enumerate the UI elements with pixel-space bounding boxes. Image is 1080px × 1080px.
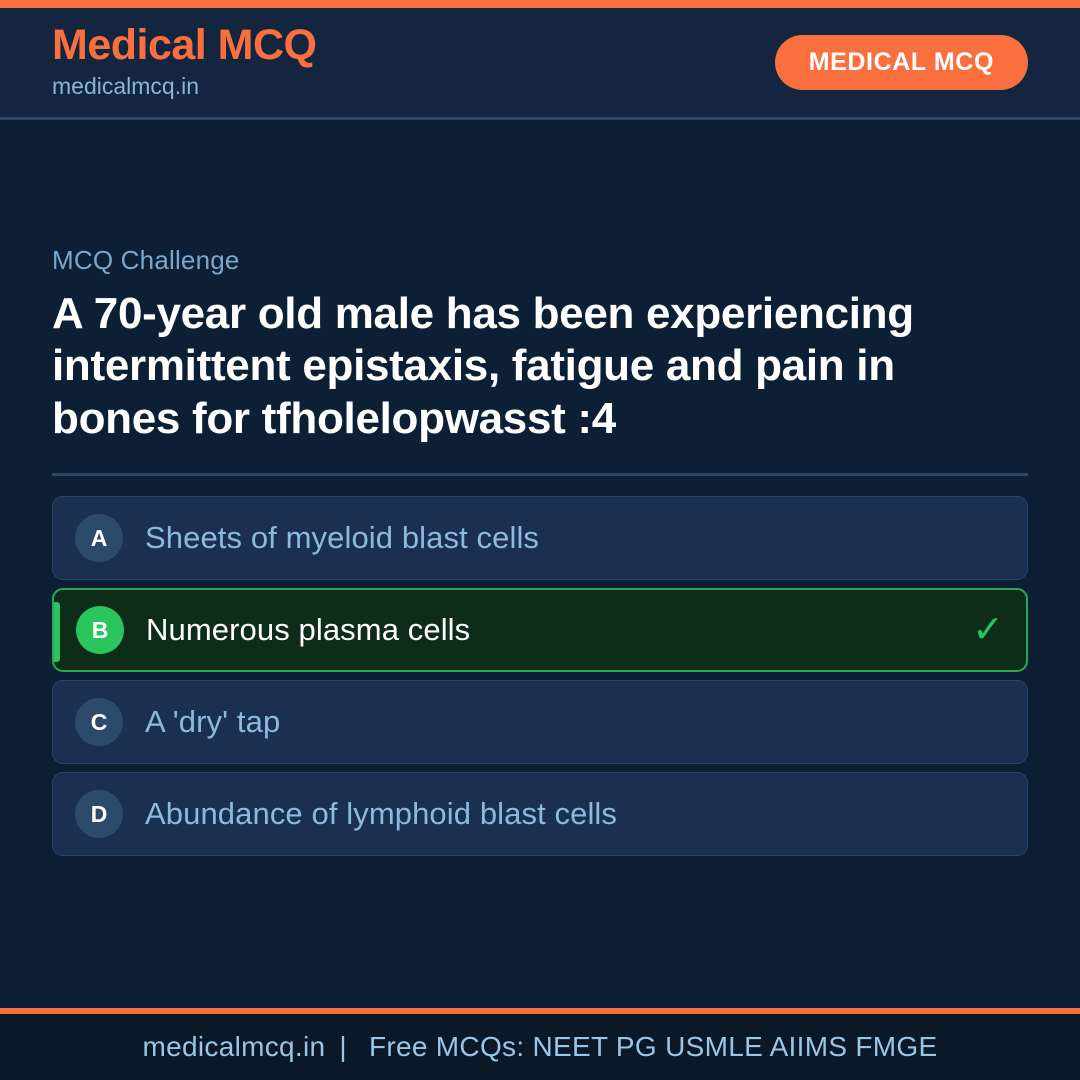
mcq-card: Medical MCQ medicalmcq.in MEDICAL MCQ MC… [0,0,1080,1080]
footer-text: medicalmcq.in|Free MCQs: NEET PG USMLE A… [143,1031,938,1063]
brand-badge: MEDICAL MCQ [775,35,1028,90]
brand-subtitle: medicalmcq.in [52,72,317,102]
option-label: Sheets of myeloid blast cells [145,519,539,556]
option-d[interactable]: D Abundance of lymphoid blast cells ✓ [52,772,1028,856]
top-accent-rule [0,0,1080,8]
question-text: A 70-year old male has been experiencing… [52,288,922,445]
footer-exams: Free MCQs: NEET PG USMLE AIIMS FMGE [361,1031,938,1062]
option-label: Abundance of lymphoid blast cells [145,795,617,832]
footer-bar: medicalmcq.in|Free MCQs: NEET PG USMLE A… [0,1008,1080,1080]
option-letter-badge: D [75,790,123,838]
option-label: A 'dry' tap [145,703,280,740]
footer-separator: | [325,1031,361,1062]
option-letter-badge: A [75,514,123,562]
mcq-challenge-label: MCQ Challenge [52,245,1028,276]
brand: Medical MCQ medicalmcq.in [52,23,317,101]
option-letter-badge: C [75,698,123,746]
options-list: A Sheets of myeloid blast cells ✓ B Nume… [52,496,1028,856]
footer-site: medicalmcq.in [143,1031,326,1062]
check-icon: ✓ [972,611,1004,649]
option-b[interactable]: B Numerous plasma cells ✓ [52,588,1028,672]
option-c[interactable]: C A 'dry' tap ✓ [52,680,1028,764]
option-letter-badge: B [76,606,124,654]
option-a[interactable]: A Sheets of myeloid blast cells ✓ [52,496,1028,580]
question-divider [52,473,1028,476]
header-bar: Medical MCQ medicalmcq.in MEDICAL MCQ [0,8,1080,120]
correct-accent-bar [54,602,60,662]
question-area: MCQ Challenge A 70-year old male has bee… [0,120,1080,1008]
brand-title: Medical MCQ [52,23,317,68]
option-label: Numerous plasma cells [146,611,470,648]
